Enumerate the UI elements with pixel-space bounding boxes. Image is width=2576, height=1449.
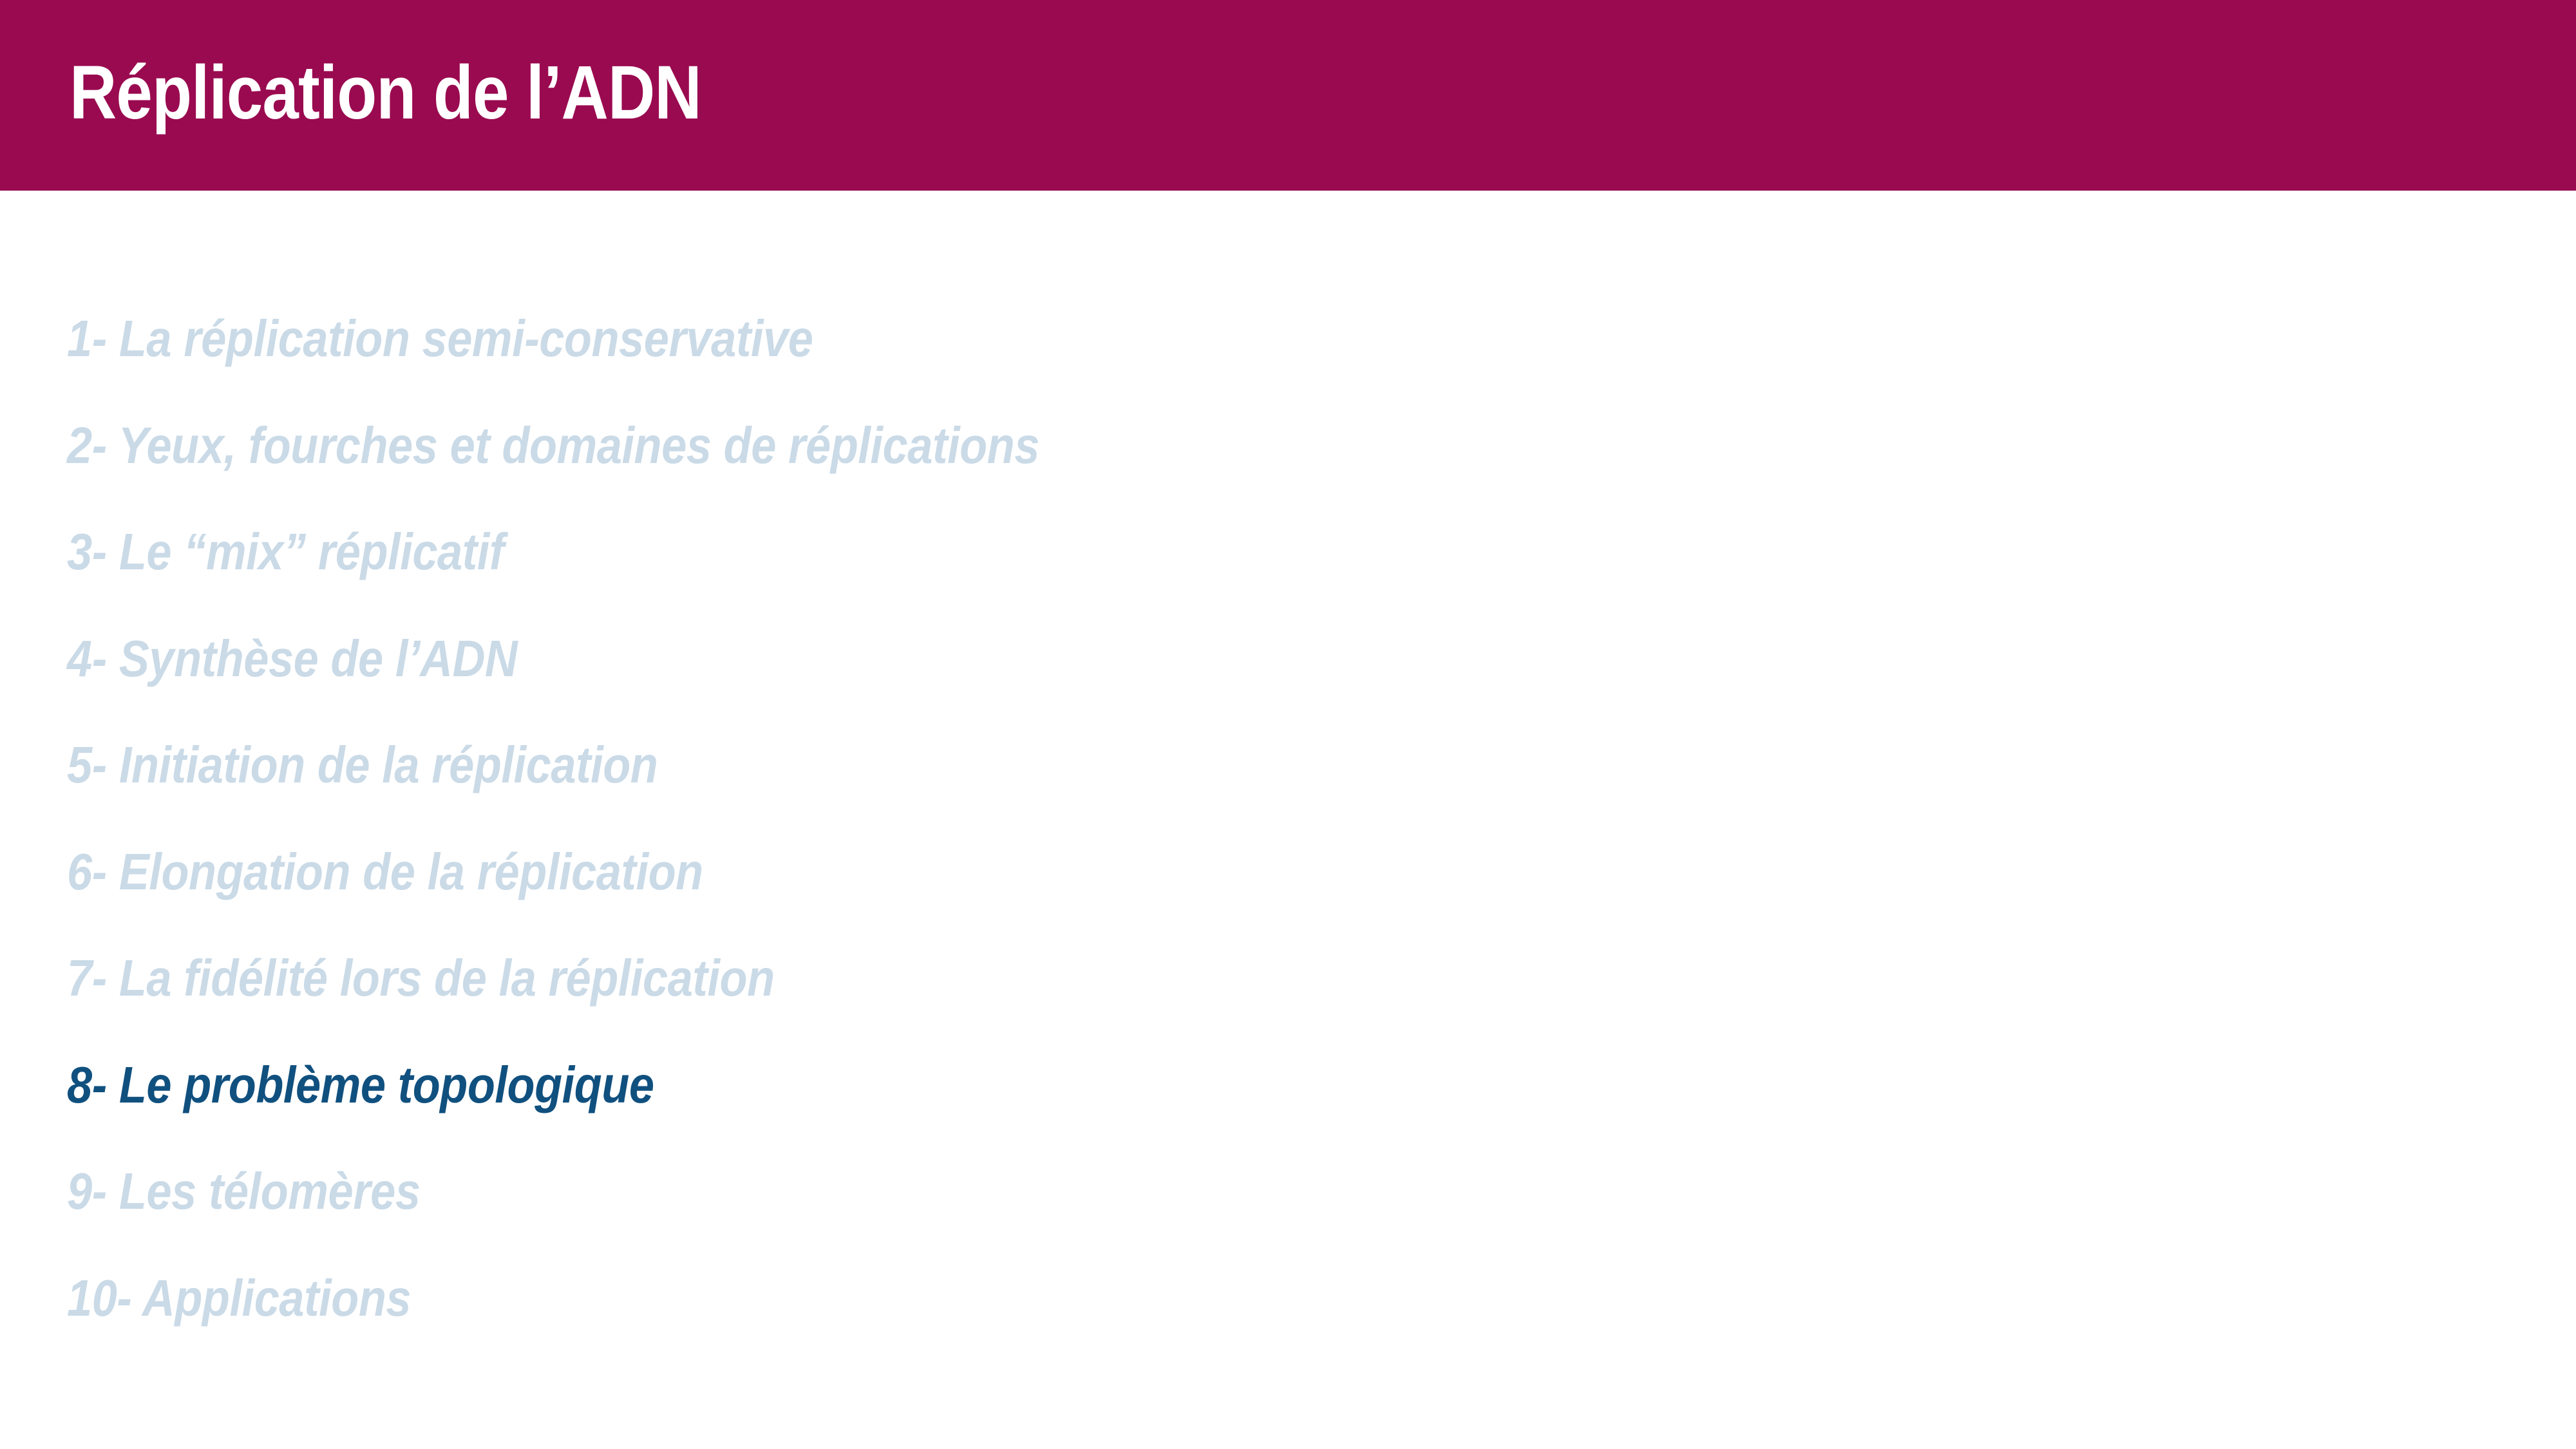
- outline-item-label: 10- Applications: [67, 1267, 411, 1324]
- outline-item-3[interactable]: 3- Le “mix” réplicatif: [67, 521, 2450, 628]
- outline-item-1[interactable]: 1- La réplication semi-conservative: [67, 308, 2450, 415]
- outline-item-4[interactable]: 4- Synthèse de l’ADN: [67, 628, 2450, 735]
- page-title: Réplication de l’ADN: [70, 50, 701, 135]
- outline-list: 1- La réplication semi-conservative 2- Y…: [67, 308, 2450, 1374]
- outline-item-label: 1- La réplication semi-conservative: [67, 308, 813, 365]
- slide-header-band: Réplication de l’ADN: [0, 0, 2576, 191]
- outline-item-label: 3- Le “mix” réplicatif: [67, 521, 504, 578]
- outline-item-8[interactable]: 8- Le problème topologique: [67, 1054, 2450, 1161]
- outline-item-label: 4- Synthèse de l’ADN: [67, 628, 517, 685]
- presentation-slide: Réplication de l’ADN 1- La réplication s…: [0, 0, 2576, 1449]
- outline-item-label: 9- Les télomères: [67, 1160, 421, 1217]
- outline-item-label: 5- Initiation de la réplication: [67, 734, 658, 791]
- outline-item-10[interactable]: 10- Applications: [67, 1267, 2450, 1374]
- outline-item-label: 2- Yeux, fourches et domaines de réplica…: [67, 415, 1039, 471]
- outline-item-label: 7- La fidélité lors de la réplication: [67, 947, 775, 1004]
- outline-item-6[interactable]: 6- Elongation de la réplication: [67, 841, 2450, 948]
- outline-item-2[interactable]: 2- Yeux, fourches et domaines de réplica…: [67, 415, 2450, 522]
- outline-item-label: 6- Elongation de la réplication: [67, 841, 703, 898]
- outline-item-9[interactable]: 9- Les télomères: [67, 1160, 2450, 1267]
- outline-item-7[interactable]: 7- La fidélité lors de la réplication: [67, 947, 2450, 1054]
- outline-item-5[interactable]: 5- Initiation de la réplication: [67, 734, 2450, 841]
- outline-item-label: 8- Le problème topologique: [67, 1054, 654, 1111]
